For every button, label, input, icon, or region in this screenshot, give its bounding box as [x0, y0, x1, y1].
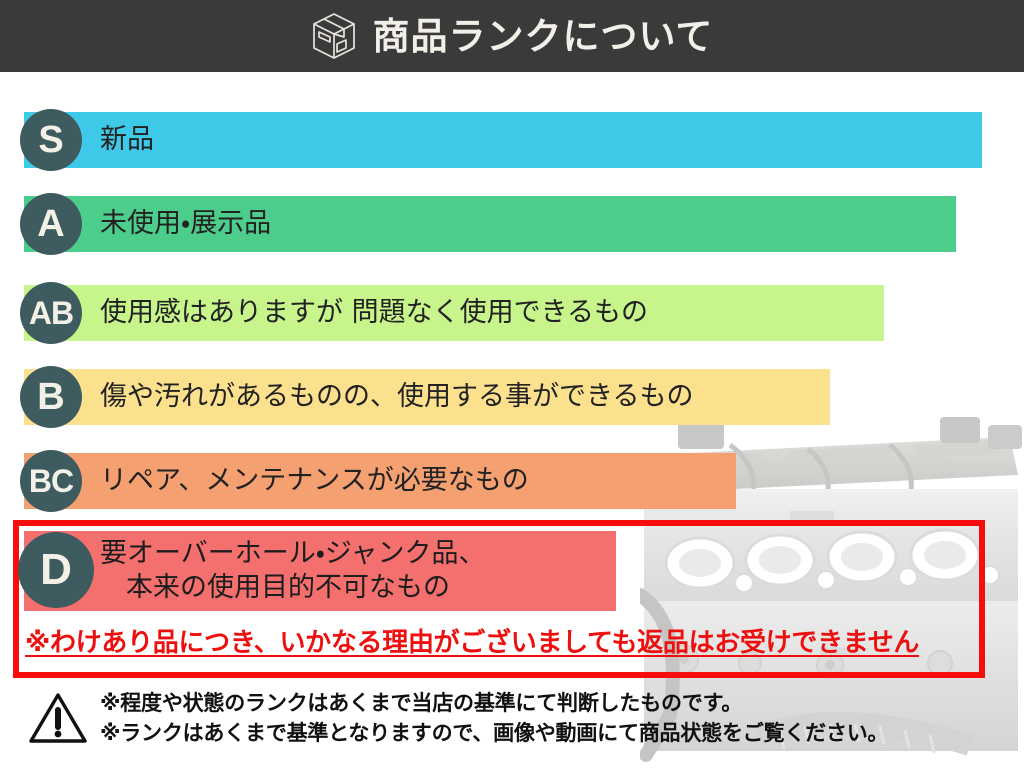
footer-note-1: ※程度や状態のランクはあくまで当店の基準にて判断したものです。 [100, 688, 888, 718]
footer-note-2: ※ランクはあくまで基準となりますので、画像や動画にて商品状態をご覧ください。 [100, 718, 888, 748]
rank-badge-a: A [20, 193, 82, 255]
rank-bar-bc: リペア、メンテナンスが必要なもの [24, 453, 736, 509]
rank-badge-b: B [20, 366, 82, 428]
page-header: 商品ランクについて [0, 0, 1024, 72]
rank-bar-b: 傷や汚れがあるものの、使用する事ができるもの [24, 369, 830, 425]
rank-description-d: 要オーバーホール・ジャンク品、 本来の使用目的不可なもの [100, 537, 486, 605]
rank-row-bc: リペア、メンテナンスが必要なもの BC [24, 453, 736, 509]
rank-description-bc: リペア、メンテナンスが必要なもの [100, 465, 529, 497]
rank-badge-s: S [20, 109, 82, 171]
rank-bar-s: 新品 [24, 112, 982, 168]
rank-row-b: 傷や汚れがあるものの、使用する事ができるもの B [24, 369, 830, 425]
package-box-icon [311, 11, 357, 61]
rank-description-a: 未使用・展示品 [100, 208, 271, 240]
rank-description-s: 新品 [100, 124, 154, 156]
rank-description-d-line2: 本来の使用目的不可なもの [100, 571, 486, 605]
rank-bar-d: 要オーバーホール・ジャンク品、 本来の使用目的不可なもの [24, 531, 616, 611]
warning-triangle-icon [28, 688, 88, 750]
rank-badge-ab: AB [20, 282, 82, 344]
rank-description-d-line1: 要オーバーホール・ジャンク品、 [100, 538, 486, 569]
rank-row-d: 要オーバーホール・ジャンク品、 本来の使用目的不可なもの D [24, 531, 616, 611]
no-returns-warning-text: ※わけあり品につき、いかなる理由がございましても返品はお受けできません [25, 622, 977, 659]
rank-row-ab: 使用感はありますが 問題なく使用できるもの AB [24, 285, 884, 341]
rank-description-b: 傷や汚れがあるものの、使用する事ができるもの [100, 381, 693, 413]
rank-bar-ab: 使用感はありますが 問題なく使用できるもの [24, 285, 884, 341]
rank-row-a: 未使用・展示品 A [24, 196, 956, 252]
rank-badge-bc: BC [20, 450, 82, 512]
rank-badge-d: D [18, 532, 94, 608]
rank-description-ab: 使用感はありますが 問題なく使用できるもの [100, 297, 648, 329]
page-title: 商品ランクについて [373, 18, 714, 55]
rank-row-s: 新品 S [24, 112, 982, 168]
footer-notes: ※程度や状態のランクはあくまで当店の基準にて判断したものです。 ※ランクはあくま… [28, 688, 1018, 750]
rank-bar-a: 未使用・展示品 [24, 196, 956, 252]
infographic-canvas: 商品ランクについて 新品 S 未使用・展示品 A 使用感はありますが 問題なく使… [0, 0, 1024, 768]
